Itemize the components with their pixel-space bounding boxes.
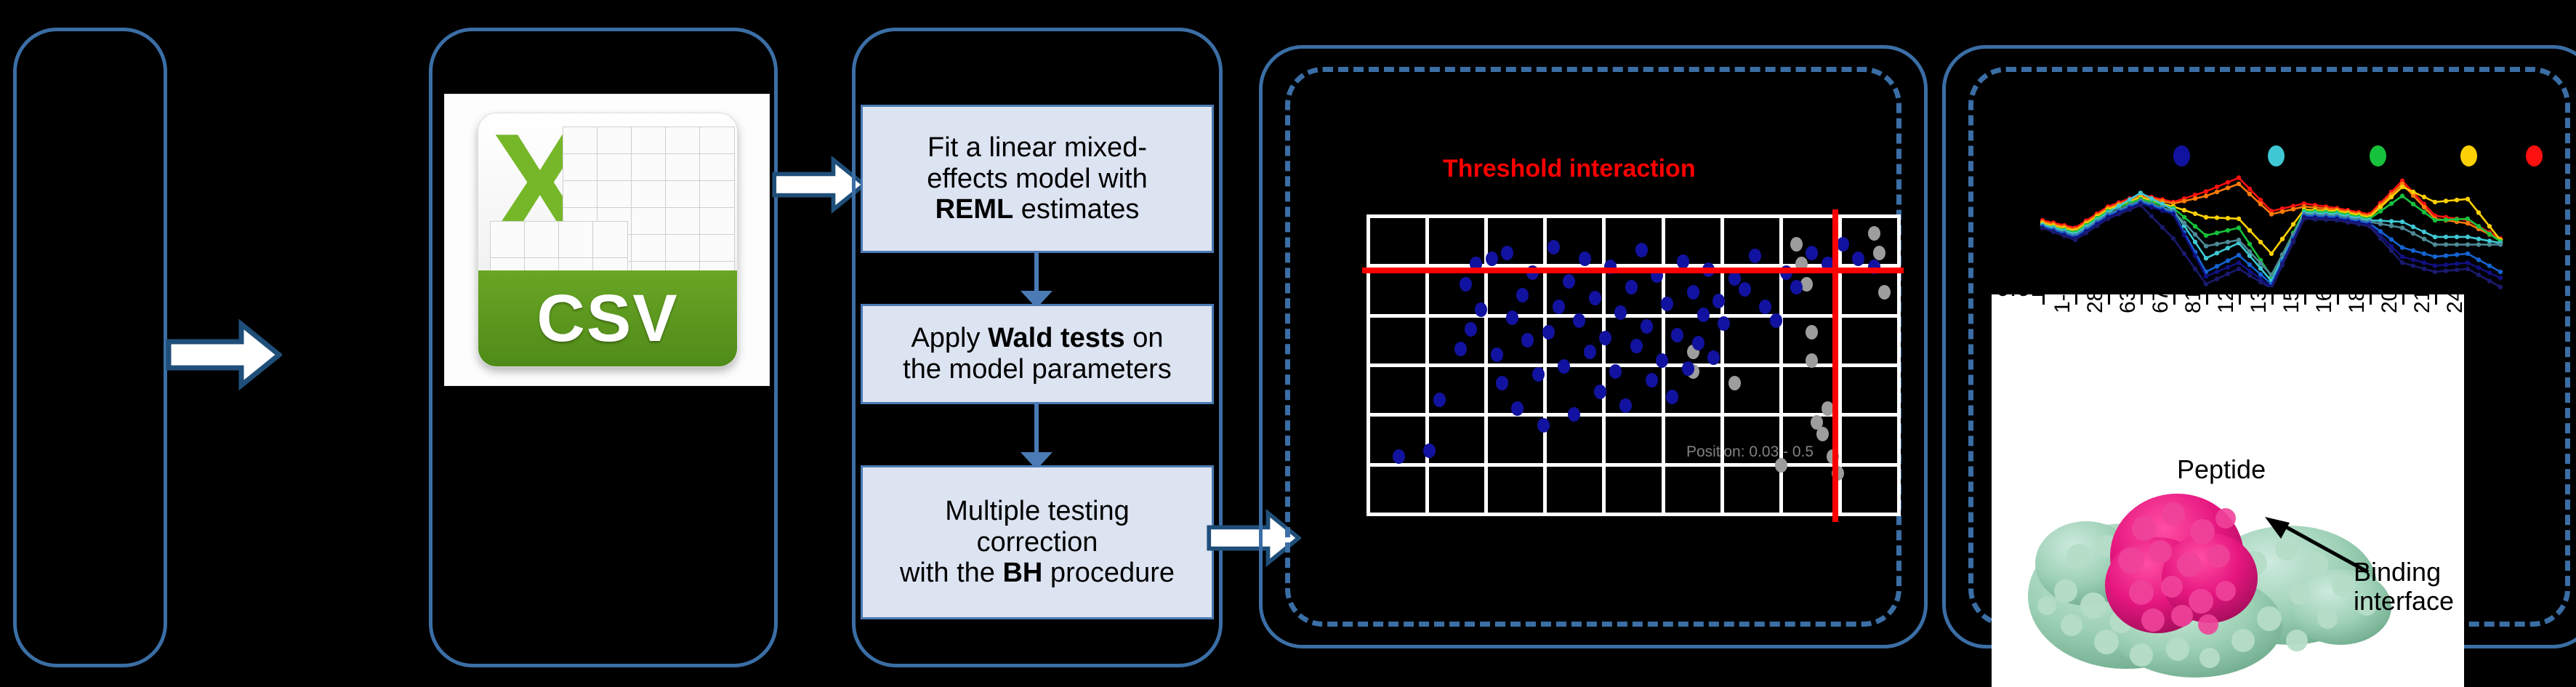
line-marker bbox=[2378, 222, 2383, 226]
line-marker bbox=[2433, 200, 2437, 204]
scatter-point bbox=[1460, 277, 1472, 292]
line-marker bbox=[2237, 260, 2241, 265]
scatter-point bbox=[1609, 364, 1622, 379]
line-marker bbox=[2247, 268, 2252, 273]
legend-dot bbox=[2526, 145, 2543, 166]
line-marker bbox=[2422, 195, 2426, 199]
scatter-point bbox=[1491, 347, 1503, 362]
line-marker bbox=[2444, 217, 2448, 222]
peptide-tick-label: 241-257 bbox=[2443, 287, 2464, 313]
csv-grid-cell bbox=[699, 126, 735, 155]
peptide-tick bbox=[2206, 294, 2208, 305]
scatter-point bbox=[1687, 285, 1699, 300]
line-marker bbox=[2356, 222, 2361, 226]
scatter-point bbox=[1630, 339, 1643, 353]
line-marker bbox=[2378, 205, 2383, 209]
line-marker bbox=[2422, 210, 2426, 214]
process-box-reml-text: Fit a linear mixed- effects model with R… bbox=[927, 132, 1147, 225]
line-marker bbox=[2466, 235, 2470, 239]
line-marker bbox=[2226, 240, 2230, 244]
legend-dot bbox=[2173, 145, 2190, 166]
line-marker bbox=[2182, 215, 2186, 220]
peptide-tick bbox=[2239, 294, 2241, 305]
peptide-tick-label: 135-144 bbox=[2247, 287, 2271, 313]
scatter-point bbox=[1770, 313, 1782, 328]
csv-grid-cell bbox=[631, 180, 667, 209]
gridline-horizontal bbox=[1367, 463, 1901, 467]
scatter-point bbox=[1553, 300, 1565, 314]
csv-grid-cell bbox=[597, 126, 632, 155]
line-marker bbox=[2466, 252, 2470, 256]
scatter-point bbox=[1641, 319, 1653, 334]
line-marker bbox=[2400, 260, 2404, 265]
process-box-wald-text: Apply Wald tests on the model parameters bbox=[903, 323, 1172, 385]
csv-label-band: CSV bbox=[478, 270, 737, 366]
line-marker bbox=[2433, 263, 2437, 268]
line-marker bbox=[2237, 253, 2241, 257]
csv-grid-cell bbox=[524, 221, 560, 259]
line-marker bbox=[2182, 220, 2186, 225]
line-marker bbox=[2389, 249, 2394, 253]
peptide-tick-label: 1-15 bbox=[2050, 287, 2075, 313]
connector-reml-to-wald bbox=[1034, 253, 1039, 294]
line-marker bbox=[2389, 219, 2394, 223]
line-marker bbox=[2346, 220, 2350, 225]
line-marker bbox=[2128, 197, 2132, 201]
threshold-interaction-line bbox=[1362, 268, 1904, 273]
line-marker bbox=[2498, 242, 2503, 246]
line-marker bbox=[2466, 260, 2470, 265]
csv-grid-cell bbox=[597, 180, 632, 209]
line-marker bbox=[2193, 232, 2197, 236]
line-marker bbox=[2237, 175, 2241, 180]
line-marker bbox=[2215, 190, 2219, 194]
line-marker bbox=[2204, 233, 2208, 238]
line-marker bbox=[2411, 249, 2415, 253]
line-marker bbox=[2302, 217, 2306, 221]
scatter-point bbox=[1739, 282, 1751, 297]
peptide-tick bbox=[2402, 294, 2404, 305]
scatter-point bbox=[1506, 310, 1518, 325]
gridline-horizontal bbox=[1367, 314, 1901, 318]
threshold-scatter-plot: Position: 0.03 - 0.5 bbox=[1367, 214, 1901, 516]
line-marker bbox=[2476, 273, 2481, 277]
line-marker bbox=[2378, 209, 2383, 213]
line-marker bbox=[2237, 182, 2241, 186]
scatter-point bbox=[1718, 316, 1730, 331]
line-marker bbox=[2444, 235, 2448, 239]
scatter-point bbox=[1433, 393, 1446, 407]
ligand-chain-pink bbox=[2105, 494, 2258, 635]
peptide-tick bbox=[2435, 294, 2437, 305]
arrow-source-to-csv bbox=[166, 318, 282, 391]
line-marker bbox=[2160, 225, 2165, 230]
gridline-vertical bbox=[1367, 214, 1370, 516]
csv-grid-cell bbox=[563, 126, 598, 155]
line-marker bbox=[2258, 202, 2263, 206]
line-marker bbox=[2258, 280, 2263, 284]
threshold-state-line bbox=[1832, 209, 1838, 522]
scatter-point bbox=[1868, 226, 1880, 241]
line-marker bbox=[2215, 270, 2219, 274]
scatter-point bbox=[1712, 294, 1725, 308]
scatter-point bbox=[1775, 458, 1787, 473]
line-marker bbox=[2051, 230, 2056, 234]
line-marker bbox=[2411, 190, 2415, 194]
line-marker bbox=[2160, 209, 2165, 213]
csv-grid-cell bbox=[592, 221, 628, 259]
scatter-point bbox=[1677, 254, 1689, 269]
line-marker bbox=[2280, 209, 2285, 214]
line-marker bbox=[2095, 223, 2099, 228]
scatter-point bbox=[1878, 285, 1891, 300]
line-marker bbox=[2193, 267, 2197, 271]
line-marker bbox=[2237, 225, 2241, 230]
line-marker bbox=[2324, 217, 2328, 222]
peptide-tick-label: 167-180 bbox=[2312, 287, 2337, 313]
scatter-point bbox=[1501, 246, 1513, 260]
legend-dot bbox=[2460, 145, 2477, 166]
scatter-point bbox=[1589, 291, 1601, 305]
gridline-vertical bbox=[1897, 214, 1901, 516]
line-marker bbox=[2182, 233, 2186, 237]
scatter-point bbox=[1837, 237, 1849, 252]
line-marker bbox=[2400, 220, 2404, 224]
scatter-point bbox=[1816, 427, 1829, 441]
line-marker bbox=[2444, 254, 2448, 258]
peptide-tick bbox=[2337, 294, 2339, 305]
line-marker bbox=[2226, 180, 2230, 185]
scatter-point bbox=[1806, 246, 1818, 260]
csv-grid-cell bbox=[699, 180, 735, 209]
scatter-point bbox=[1599, 331, 1611, 345]
line-marker bbox=[2280, 263, 2285, 268]
line-marker bbox=[2335, 218, 2339, 222]
scatter-point bbox=[1475, 302, 1487, 317]
line-marker bbox=[2117, 212, 2121, 216]
scatter-point bbox=[1454, 342, 1467, 356]
line-marker bbox=[2237, 217, 2241, 221]
line-marker bbox=[2237, 267, 2241, 271]
scatter-point bbox=[1671, 328, 1683, 342]
legend-dot bbox=[2268, 145, 2285, 166]
line-marker bbox=[2226, 228, 2230, 233]
peptide-tick-label: 122-129 bbox=[2214, 287, 2239, 313]
line-marker bbox=[2226, 265, 2230, 270]
line-marker bbox=[2466, 197, 2470, 201]
gridline-vertical bbox=[1543, 214, 1547, 516]
scatter-point bbox=[1806, 325, 1818, 340]
peptide-tick-label: 81-101 bbox=[2181, 287, 2206, 313]
line-marker bbox=[2422, 252, 2426, 256]
scatter-point bbox=[1682, 361, 1694, 376]
peptide-tick-label: 218-237 bbox=[2410, 287, 2435, 313]
line-marker bbox=[2466, 242, 2470, 246]
scatter-point bbox=[1563, 274, 1575, 289]
line-marker bbox=[2215, 242, 2219, 246]
scatter-point bbox=[1579, 252, 1591, 266]
process-box-wald[interactable]: Apply Wald tests on the model parameters bbox=[861, 304, 1214, 404]
scatter-point bbox=[1521, 333, 1534, 347]
scatter-point bbox=[1558, 359, 1570, 374]
scatter-point bbox=[1619, 398, 1632, 413]
line-marker bbox=[2084, 230, 2088, 235]
line-marker bbox=[2422, 260, 2426, 265]
peptide-tick bbox=[2141, 294, 2143, 305]
line-marker bbox=[2476, 237, 2481, 241]
line-marker bbox=[2215, 185, 2219, 189]
csv-icon: X CSV bbox=[478, 113, 738, 367]
csv-grid-cell bbox=[558, 221, 594, 259]
line-marker bbox=[2487, 224, 2492, 228]
line-marker bbox=[2422, 237, 2426, 241]
gridline-horizontal bbox=[1367, 513, 1901, 516]
scatter-point bbox=[1594, 385, 1606, 399]
csv-grid-cell bbox=[631, 126, 667, 155]
scatter-point bbox=[1573, 313, 1585, 328]
scatter-point bbox=[1806, 353, 1818, 368]
line-marker bbox=[2433, 242, 2437, 246]
line-marker bbox=[2215, 264, 2219, 268]
line-marker bbox=[2269, 252, 2274, 256]
line-marker bbox=[2226, 272, 2230, 276]
scatter-point bbox=[1516, 288, 1529, 302]
scatter-point bbox=[1728, 376, 1741, 390]
scatter-point bbox=[1749, 249, 1761, 263]
line-marker bbox=[2389, 223, 2394, 228]
peptide-tick bbox=[2370, 294, 2372, 305]
line-marker bbox=[2193, 240, 2197, 244]
peptide-tick-label: 63-73 bbox=[2116, 287, 2141, 313]
line-marker bbox=[2226, 258, 2230, 262]
figure-canvas: X CSV Fit a linear mixed- effects model … bbox=[0, 0, 2576, 687]
line-marker bbox=[2193, 196, 2197, 201]
line-marker bbox=[2258, 272, 2263, 276]
line-marker bbox=[2487, 270, 2492, 275]
line-marker bbox=[2215, 251, 2219, 255]
source-data-panel bbox=[13, 28, 167, 667]
line-marker bbox=[2171, 212, 2175, 216]
line-marker bbox=[2247, 262, 2252, 267]
scatter-point bbox=[1465, 322, 1477, 337]
scatter-point bbox=[1584, 345, 1596, 359]
process-box-reml[interactable]: Fit a linear mixed- effects model with R… bbox=[861, 105, 1214, 253]
line-marker bbox=[2498, 276, 2503, 280]
line-marker bbox=[2476, 257, 2481, 262]
line-marker bbox=[2138, 190, 2143, 195]
scatter-point bbox=[1423, 443, 1436, 458]
axis-faint-text: Position: 0.03 - 0.5 bbox=[1686, 443, 1814, 461]
line-marker bbox=[2433, 270, 2437, 274]
line-marker bbox=[2182, 208, 2186, 212]
line-marker bbox=[2149, 196, 2154, 201]
line-marker bbox=[2291, 222, 2295, 226]
line-marker bbox=[2226, 185, 2230, 190]
process-box-bh[interactable]: Multiple testing correction with the BH … bbox=[861, 465, 1214, 619]
line-marker bbox=[2487, 278, 2492, 283]
peptide-tick bbox=[2271, 294, 2274, 305]
line-marker bbox=[2193, 212, 2197, 216]
csv-label: CSV bbox=[536, 281, 678, 357]
line-marker bbox=[2128, 207, 2132, 212]
line-marker bbox=[2247, 228, 2252, 233]
line-marker bbox=[2411, 263, 2415, 268]
line-marker bbox=[2291, 207, 2295, 212]
csv-grid-cell bbox=[665, 126, 701, 155]
line-marker bbox=[2378, 236, 2383, 241]
line-marker bbox=[2204, 256, 2208, 260]
scatter-point bbox=[1697, 308, 1710, 322]
peptide-line-chart-svg bbox=[2017, 166, 2526, 293]
gridline-vertical bbox=[1425, 214, 1429, 516]
line-marker bbox=[2226, 246, 2230, 250]
csv-grid-cell bbox=[597, 153, 632, 182]
gridline-vertical bbox=[1602, 214, 1606, 516]
line-marker bbox=[2476, 242, 2481, 246]
line-marker bbox=[2062, 233, 2066, 238]
scatter-point bbox=[1511, 401, 1524, 416]
line-marker bbox=[2444, 242, 2448, 246]
line-marker bbox=[2411, 202, 2415, 206]
line-marker bbox=[2455, 235, 2459, 239]
line-marker bbox=[2498, 270, 2503, 274]
csv-grid-cell bbox=[699, 153, 735, 182]
line-marker bbox=[2400, 245, 2404, 249]
line-marker bbox=[2258, 261, 2263, 265]
process-box-bh-text: Multiple testing correction with the BH … bbox=[900, 496, 1175, 589]
line-marker bbox=[2040, 225, 2045, 230]
line-marker bbox=[2476, 265, 2481, 270]
line-marker bbox=[2422, 267, 2426, 271]
line-marker bbox=[2149, 214, 2154, 218]
line-marker bbox=[2455, 242, 2459, 246]
line-marker bbox=[2215, 230, 2219, 235]
peptide-tick bbox=[2042, 294, 2045, 305]
line-marker bbox=[2487, 232, 2492, 236]
line-marker bbox=[2422, 230, 2426, 234]
scatter-point bbox=[1790, 237, 1803, 252]
line-marker bbox=[2204, 244, 2208, 248]
peptide-tick bbox=[2304, 294, 2306, 305]
csv-grid-cell bbox=[665, 153, 701, 182]
line-marker bbox=[2498, 285, 2503, 289]
scatter-point bbox=[1759, 300, 1771, 314]
line-marker bbox=[2466, 221, 2470, 225]
scatter-point bbox=[1614, 305, 1627, 320]
peptide-axis-and-structure-inset: 0.01 Peptide bbox=[1992, 287, 2464, 687]
scatter-point bbox=[1707, 350, 1720, 365]
line-marker bbox=[2422, 205, 2426, 209]
line-marker bbox=[2258, 266, 2263, 270]
line-marker bbox=[2247, 192, 2252, 196]
scatter-point bbox=[1625, 280, 1638, 294]
scatter-point bbox=[1393, 449, 1405, 464]
scatter-point bbox=[1496, 376, 1508, 390]
line-marker bbox=[2444, 262, 2448, 267]
line-marker bbox=[2138, 203, 2143, 207]
legend-dot bbox=[2370, 145, 2386, 166]
line-marker bbox=[2226, 216, 2230, 220]
peptide-tick-label: 28-44 bbox=[2083, 287, 2108, 313]
line-marker bbox=[2204, 282, 2208, 286]
y-axis-tick-label: 0.01 bbox=[1996, 287, 2044, 302]
line-marker bbox=[2291, 240, 2295, 244]
line-marker bbox=[2269, 273, 2274, 277]
line-marker bbox=[2247, 249, 2252, 254]
line-marker bbox=[2149, 205, 2154, 209]
peptide-tick-label: 200-214 bbox=[2378, 287, 2402, 313]
line-marker bbox=[2455, 217, 2459, 221]
scatter-point bbox=[1656, 353, 1668, 368]
csv-file-image: X CSV bbox=[445, 95, 769, 385]
peptide-tick-label: 158-166 bbox=[2279, 287, 2304, 313]
line-marker bbox=[2204, 193, 2208, 198]
connector-wald-to-bh bbox=[1034, 404, 1039, 455]
line-marker bbox=[2215, 277, 2219, 281]
line-marker bbox=[2073, 238, 2077, 242]
line-marker bbox=[2171, 236, 2175, 241]
line-marker bbox=[2313, 217, 2317, 221]
line-marker bbox=[2433, 235, 2437, 239]
csv-grid-cell bbox=[631, 153, 667, 182]
line-marker bbox=[2466, 217, 2470, 221]
line-marker bbox=[2455, 262, 2459, 266]
scatter-point bbox=[1635, 243, 1648, 257]
line-marker bbox=[2204, 274, 2208, 278]
scatter-point bbox=[1692, 336, 1704, 350]
threshold-interaction-label: Threshold interaction bbox=[1443, 155, 1696, 183]
line-marker bbox=[2476, 210, 2481, 214]
peptide-tick-label: 67-75 bbox=[2149, 287, 2173, 313]
csv-grid-cell bbox=[563, 153, 598, 182]
line-marker bbox=[2204, 215, 2208, 220]
peptide-line-chart bbox=[2017, 166, 2526, 293]
scatter-point bbox=[1547, 240, 1560, 254]
gridline-vertical bbox=[1720, 214, 1724, 516]
line-marker bbox=[2411, 257, 2415, 262]
line-marker bbox=[2433, 218, 2437, 222]
binding-interface-label: Binding interface bbox=[2354, 558, 2454, 616]
line-marker bbox=[2433, 254, 2437, 259]
scatter-point bbox=[1873, 246, 1885, 260]
line-marker bbox=[2182, 252, 2186, 256]
line-marker bbox=[2247, 187, 2252, 191]
line-marker bbox=[2204, 189, 2208, 193]
csv-grid-cell bbox=[490, 221, 526, 259]
line-marker bbox=[2455, 198, 2459, 202]
scatter-point bbox=[1852, 252, 1864, 266]
scatter-point bbox=[1728, 271, 1741, 286]
line-marker bbox=[2400, 254, 2404, 259]
line-marker bbox=[2455, 268, 2459, 272]
line-marker bbox=[2389, 195, 2394, 199]
line-marker bbox=[2215, 215, 2219, 220]
scatter-point bbox=[1646, 373, 1658, 387]
line-marker bbox=[2487, 263, 2492, 268]
line-marker bbox=[2411, 225, 2415, 229]
csv-grid-cell bbox=[563, 180, 598, 209]
scatter-point bbox=[1568, 407, 1580, 422]
scatter-point bbox=[1532, 367, 1545, 382]
line-marker bbox=[2411, 231, 2415, 236]
line-marker bbox=[2106, 217, 2110, 221]
scatter-point bbox=[1486, 252, 1498, 266]
peptide-tick bbox=[2075, 294, 2077, 305]
line-marker bbox=[2466, 267, 2470, 271]
peptide-tick-label: 184-199 bbox=[2345, 287, 2370, 313]
line-marker bbox=[2258, 240, 2263, 244]
peptide-tick bbox=[2173, 294, 2175, 305]
